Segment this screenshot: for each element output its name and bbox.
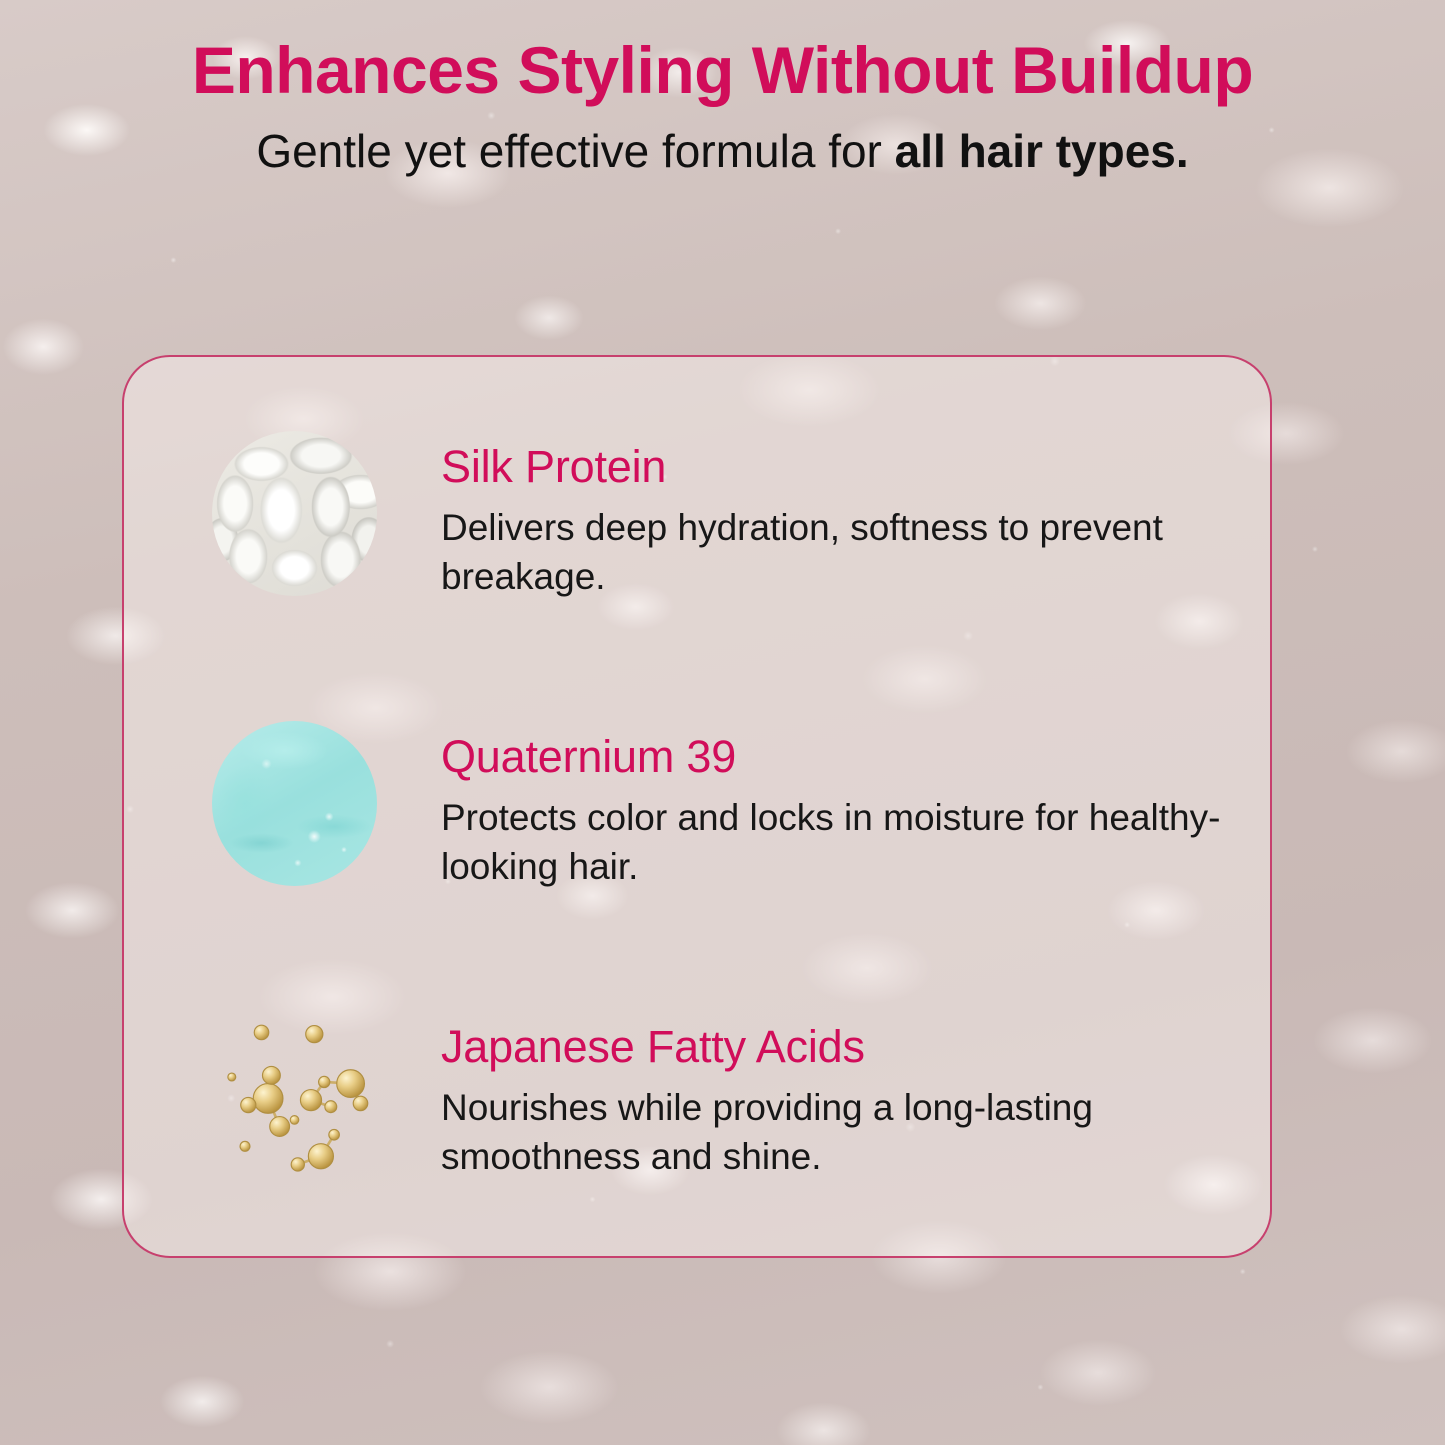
subheadline-normal-text: Gentle yet effective formula for xyxy=(256,125,894,177)
page-subheadline: Gentle yet effective formula for all hai… xyxy=(0,125,1445,178)
ingredient-copy: Silk Protein Delivers deep hydration, so… xyxy=(441,431,1230,602)
golden-molecule-icon xyxy=(212,1011,377,1176)
aqua-gel-icon xyxy=(212,721,377,886)
ingredient-description: Delivers deep hydration, softness to pre… xyxy=(441,503,1230,601)
list-item: Japanese Fatty Acids Nourishes while pro… xyxy=(212,1011,1230,1182)
silk-cocoons-icon xyxy=(212,431,377,596)
header-block: Enhances Styling Without Buildup Gentle … xyxy=(0,0,1445,178)
ingredient-description: Protects color and locks in moisture for… xyxy=(441,793,1230,891)
ingredients-card: Silk Protein Delivers deep hydration, so… xyxy=(122,355,1272,1258)
ingredient-copy: Quaternium 39 Protects color and locks i… xyxy=(441,721,1230,892)
ingredients-list: Silk Protein Delivers deep hydration, so… xyxy=(124,357,1270,1256)
subheadline-bold-text: all hair types. xyxy=(895,125,1189,177)
molecule-graphic xyxy=(212,1011,377,1176)
ingredient-title: Quaternium 39 xyxy=(441,733,1230,780)
ingredient-title: Silk Protein xyxy=(441,443,1230,490)
ingredient-description: Nourishes while providing a long-lasting… xyxy=(441,1083,1230,1181)
page-headline: Enhances Styling Without Buildup xyxy=(0,36,1445,105)
ingredient-copy: Japanese Fatty Acids Nourishes while pro… xyxy=(441,1011,1230,1182)
list-item: Silk Protein Delivers deep hydration, so… xyxy=(212,431,1230,602)
ingredient-title: Japanese Fatty Acids xyxy=(441,1023,1230,1070)
list-item: Quaternium 39 Protects color and locks i… xyxy=(212,721,1230,892)
